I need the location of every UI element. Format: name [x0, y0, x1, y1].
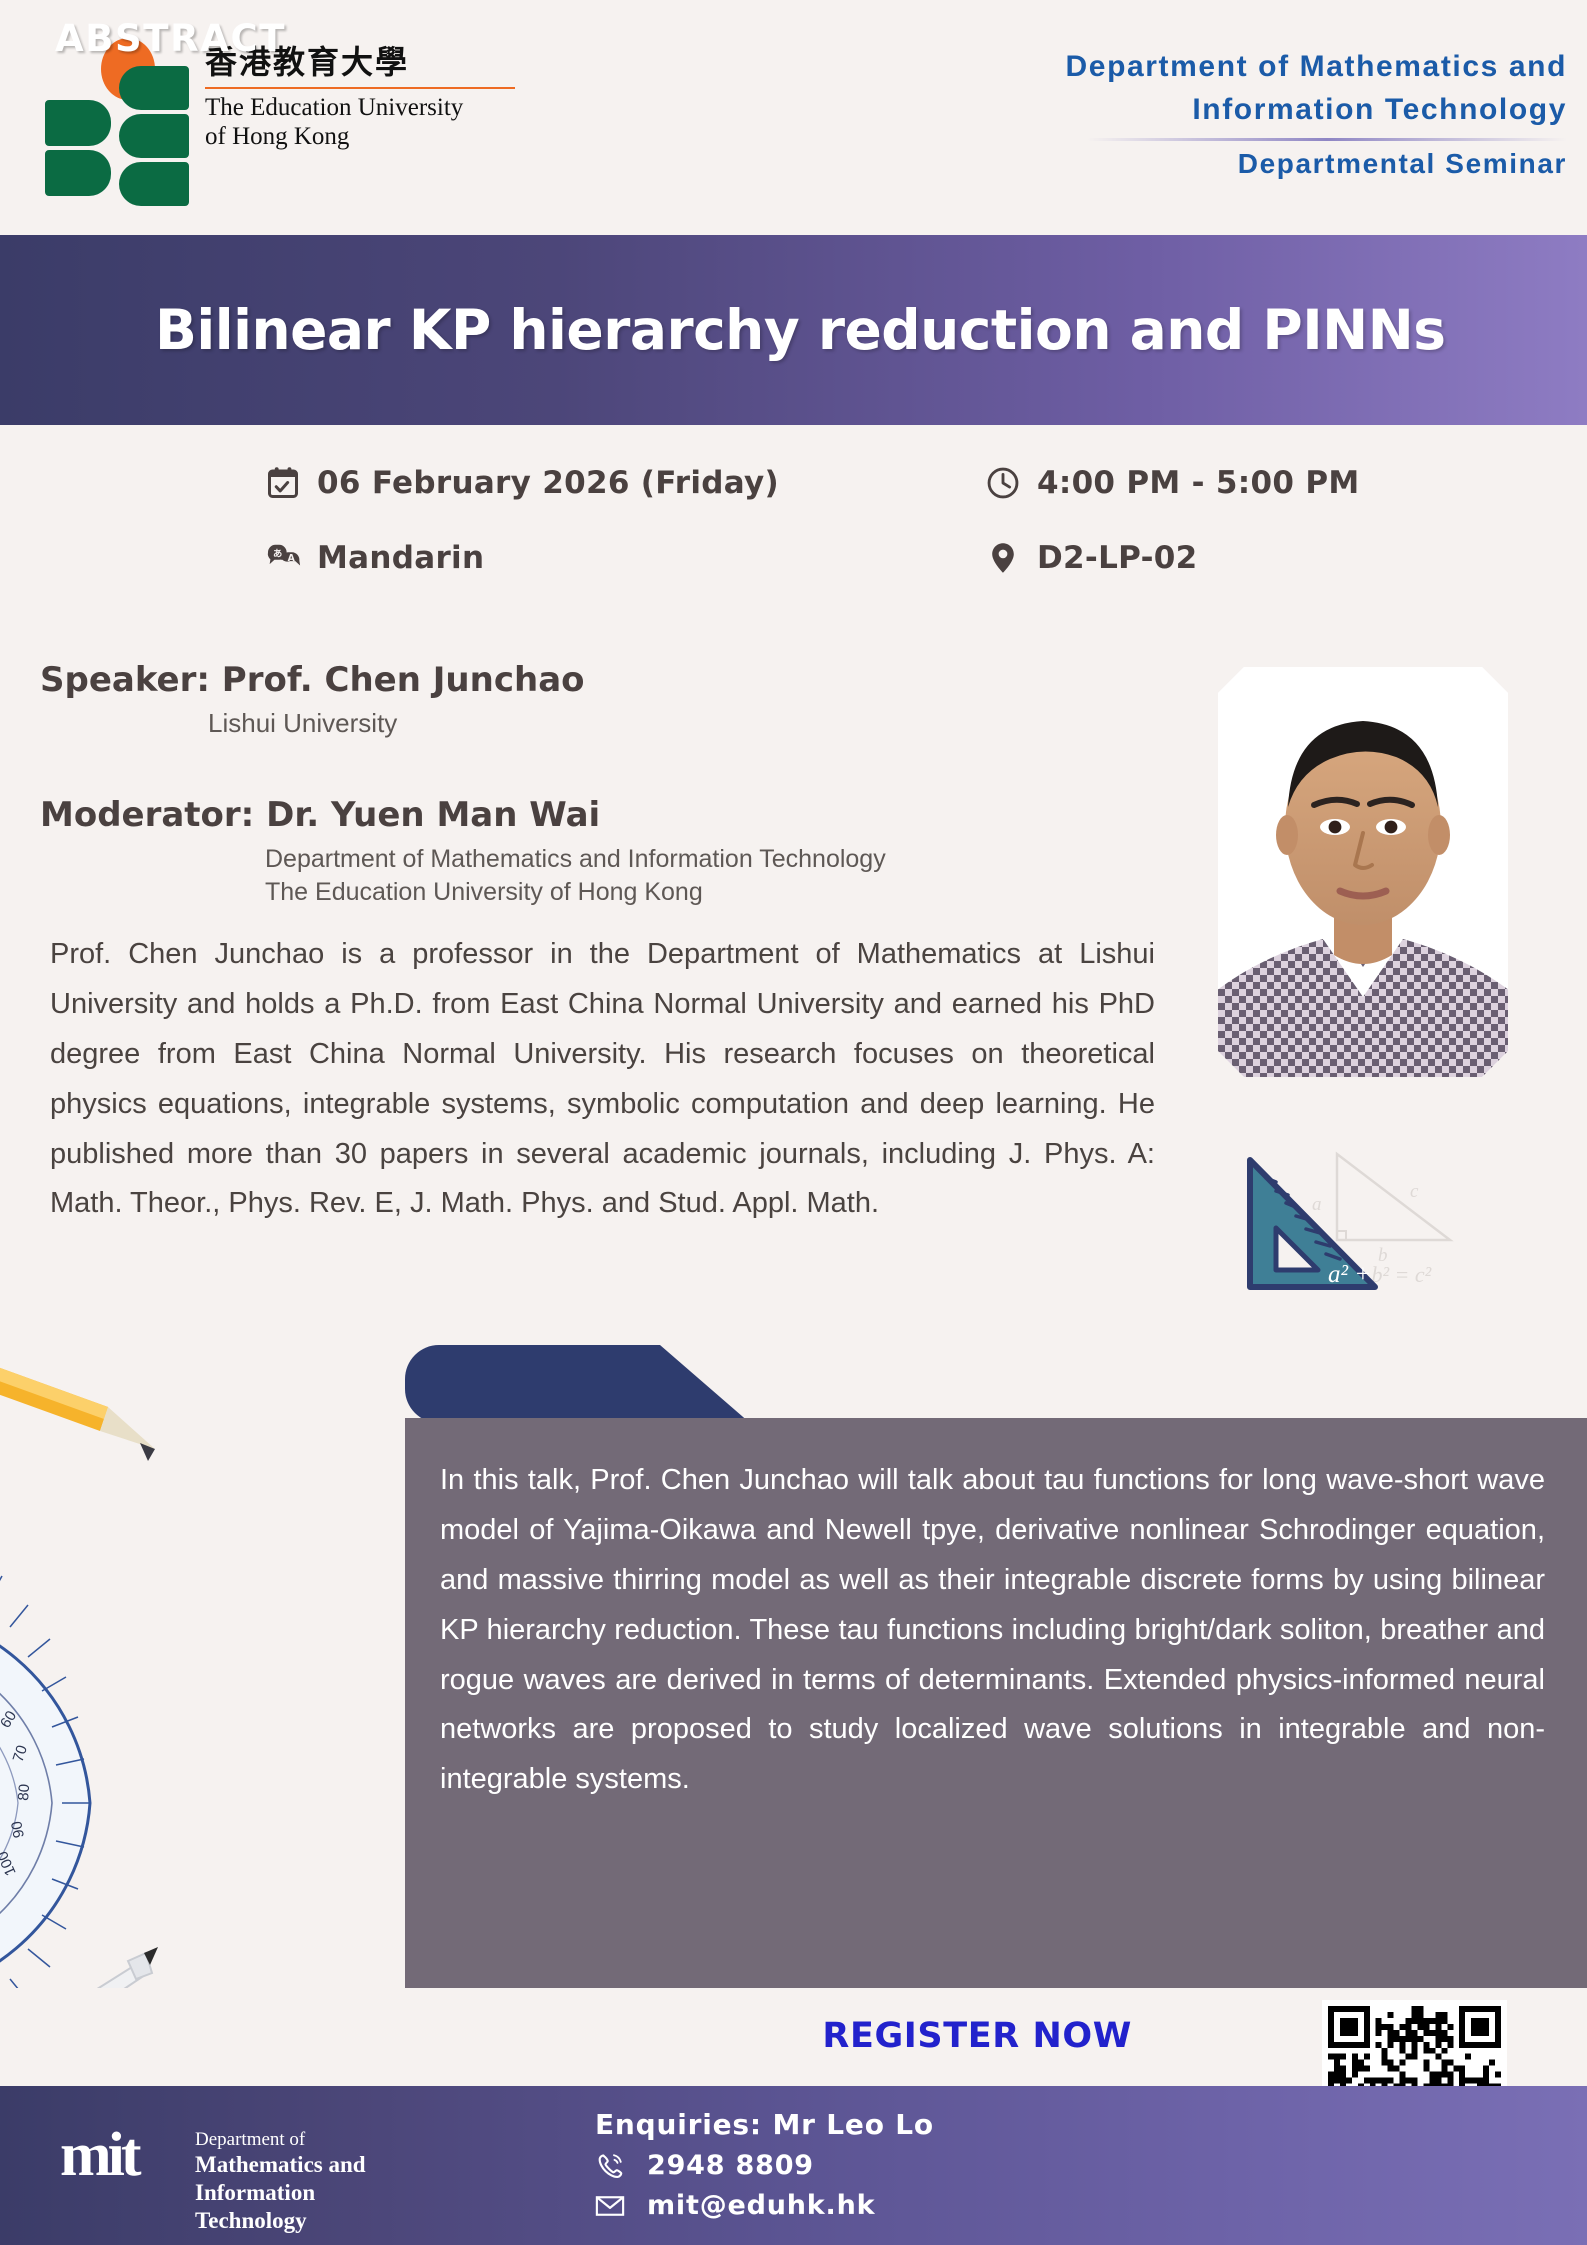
seminar-poster: 香港教育大學 The Education University of Hong …: [0, 0, 1587, 2245]
enquiries-email-row: mit@eduhk.hk: [595, 2190, 934, 2221]
triangle-ruler-icon: a b c a² + b² = c² a² +: [1232, 1132, 1492, 1332]
department-name-line1: Department of Mathematics and: [687, 46, 1567, 89]
speaker-portrait: [1218, 667, 1508, 1077]
enquiries-block: Enquiries: Mr Leo Lo 2948 8809 mit@eduhk…: [595, 2108, 934, 2221]
euhk-logo-mark: [45, 38, 190, 193]
moderator-name: Moderator: Dr. Yuen Man Wai: [40, 795, 600, 835]
page-title: Bilinear KP hierarchy reduction and PINN…: [0, 298, 1445, 362]
mit-department-logo: mit Department of Mathematics and Inform…: [60, 2120, 390, 2210]
pencil-icon: [0, 1339, 155, 1461]
moderator-affiliation-line2: The Education University of Hong Kong: [265, 876, 886, 909]
euhk-logo-rule: [205, 87, 515, 89]
mit-logo-mark: mit: [60, 2124, 138, 2186]
enquiries-email: mit@eduhk.hk: [647, 2190, 875, 2221]
detail-date-text: 06 February 2026 (Friday): [317, 465, 779, 501]
svg-text:あ: あ: [273, 549, 283, 560]
euhk-logo-icon: 香港教育大學 The Education University of Hong …: [45, 38, 515, 198]
speaker-affiliation: Lishui University: [208, 708, 397, 739]
euhk-logo-wordmark: 香港教育大學 The Education University of Hong …: [205, 44, 525, 152]
department-block: Department of Mathematics and Informatio…: [687, 46, 1567, 180]
triangle-ruler-graphic: a b c a² + b² = c² a² +: [1232, 1132, 1492, 1332]
register-now-link[interactable]: REGISTER NOW: [822, 2016, 1132, 2056]
svg-text:60: 60: [0, 1708, 20, 1731]
svg-text:a² +: a² +: [1328, 1261, 1371, 1288]
svg-text:90: 90: [8, 1820, 28, 1839]
enquiries-phone: 2948 8809: [647, 2150, 814, 2181]
speaker-name: Speaker: Prof. Chen Junchao: [40, 660, 585, 700]
university-name-en-line2: of Hong Kong: [205, 122, 525, 152]
euhk-logo-leaf: [119, 162, 189, 206]
envelope-icon: [595, 2191, 625, 2221]
university-name-en-line1: The Education University: [205, 93, 525, 123]
mit-logo-line3: Information Technology: [195, 2179, 390, 2235]
clock-icon: [985, 465, 1021, 501]
svg-text:80: 80: [15, 1783, 33, 1801]
mit-logo-line1: Department of: [195, 2128, 390, 2151]
detail-venue-text: D2-LP-02: [1037, 540, 1198, 576]
detail-language-text: Mandarin: [317, 540, 484, 576]
svg-text:c: c: [1410, 1181, 1419, 1202]
event-type-label: Departmental Seminar: [687, 148, 1567, 180]
svg-text:70: 70: [10, 1743, 31, 1764]
speaker-portrait-image: [1218, 667, 1508, 1077]
euhk-logo-leaf: [45, 150, 111, 196]
location-pin-icon: [985, 540, 1021, 576]
svg-text:110: 110: [0, 1888, 1, 1917]
mit-logo-text: Department of Mathematics and Informatio…: [195, 2128, 390, 2235]
abstract-panel: In this talk, Prof. Chen Junchao will ta…: [405, 1418, 1587, 1988]
abstract-heading: ABSTRACT: [55, 17, 286, 60]
event-details: 06 February 2026 (Friday) 4:00 PM - 5:00…: [0, 455, 1587, 615]
euhk-logo-leaf: [119, 66, 189, 110]
calendar-icon: [265, 465, 301, 501]
detail-date: 06 February 2026 (Friday): [265, 465, 779, 501]
mit-logo-line2: Mathematics and: [195, 2151, 390, 2179]
detail-time: 4:00 PM - 5:00 PM: [985, 465, 1360, 501]
enquiries-phone-row: 2948 8809: [595, 2150, 934, 2181]
euhk-logo-leaf: [119, 114, 189, 158]
detail-time-text: 4:00 PM - 5:00 PM: [1037, 465, 1360, 501]
title-banner: Bilinear KP hierarchy reduction and PINN…: [0, 235, 1587, 425]
moderator-affiliation-line1: Department of Mathematics and Informatio…: [265, 843, 886, 876]
language-bubble-icon: あ A: [265, 540, 301, 576]
speaker-biography: Prof. Chen Junchao is a professor in the…: [50, 930, 1155, 1229]
protractor-icon: 60 70 80 90 100 110 120 130 120 130: [0, 1555, 90, 2030]
euhk-logo-leaf: [45, 100, 111, 146]
abstract-body-text: In this talk, Prof. Chen Junchao will ta…: [440, 1456, 1545, 1805]
header-divider: [1087, 138, 1567, 141]
detail-language: あ A Mandarin: [265, 540, 484, 576]
abstract-tab: [405, 1345, 750, 1423]
department-name-line2: Information Technology: [687, 89, 1567, 132]
svg-text:a: a: [1312, 1194, 1322, 1215]
detail-venue: D2-LP-02: [985, 540, 1198, 576]
svg-text:A: A: [288, 553, 296, 564]
moderator-affiliation: Department of Mathematics and Informatio…: [265, 843, 886, 909]
phone-icon: [595, 2151, 625, 2181]
enquiries-title: Enquiries: Mr Leo Lo: [595, 2108, 934, 2141]
svg-text:100: 100: [0, 1849, 20, 1879]
